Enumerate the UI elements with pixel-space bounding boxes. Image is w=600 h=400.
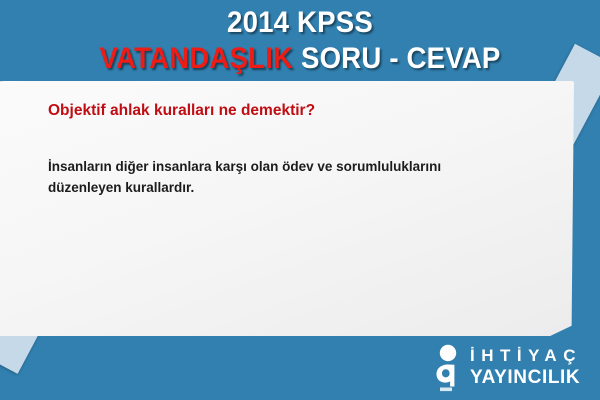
brand-logo-text: İHTİYAÇ YAYINCILIK bbox=[470, 347, 582, 387]
title-line-2: VATANDAŞLIK SORU - CEVAP bbox=[24, 38, 576, 74]
brand-name-line-2: YAYINCILIK bbox=[470, 368, 582, 387]
slide-canvas: 2014 KPSS VATANDAŞLIK SORU - CEVAP Objek… bbox=[0, 0, 600, 400]
brand-logo: İHTİYAÇ YAYINCILIK bbox=[428, 342, 582, 392]
brand-name-line-1: İHTİYAÇ bbox=[470, 347, 582, 364]
card-content: Objektif ahlak kuralları ne demektir? İn… bbox=[48, 101, 534, 199]
title-line-1: 2014 KPSS bbox=[24, 0, 576, 38]
person-figure-icon bbox=[428, 342, 462, 392]
title-highlight-vatandaslik: VATANDAŞLIK bbox=[99, 42, 293, 75]
title-soru-cevap: SORU - CEVAP bbox=[301, 42, 501, 75]
content-card: Objektif ahlak kuralları ne demektir? İn… bbox=[0, 81, 574, 336]
answer-text: İnsanların diğer insanlara karşı olan öd… bbox=[48, 157, 468, 199]
header: 2014 KPSS VATANDAŞLIK SORU - CEVAP bbox=[0, 0, 600, 80]
question-text: Objektif ahlak kuralları ne demektir? bbox=[48, 101, 534, 121]
